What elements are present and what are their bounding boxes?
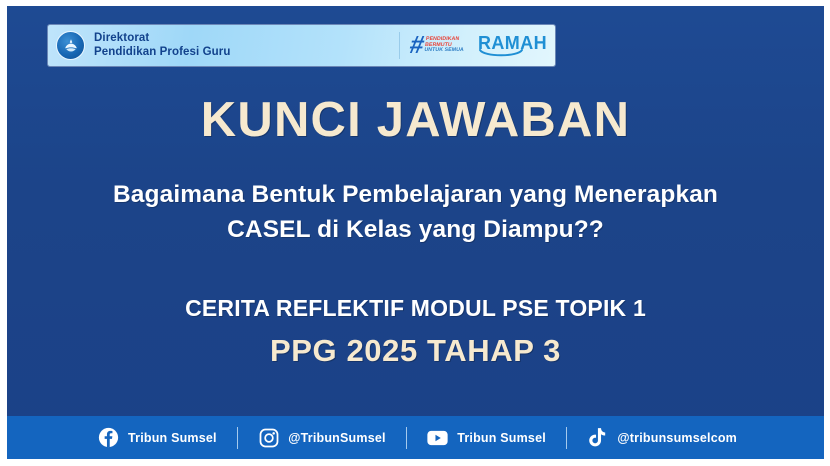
question-text: Bagaimana Bentuk Pembelajaran yang Mener… (43, 178, 788, 248)
poster-card: Direktorat Pendidikan Profesi Guru # PEN… (0, 0, 830, 466)
banner-divider (399, 32, 400, 59)
institution-name: Direktorat Pendidikan Profesi Guru (94, 32, 231, 59)
campaign-line-3: UNTUK SEMUA (423, 48, 463, 54)
youtube-icon (427, 427, 448, 448)
campaign-text: PENDIDIKAN BERMUTU UNTUK SEMUA (423, 37, 465, 54)
footer-separator (237, 427, 239, 449)
social-handle-youtube: Tribun Sumsel (457, 431, 546, 445)
social-item-tiktok[interactable]: @tribunsumselcom (587, 427, 737, 448)
question-line-1: Bagaimana Bentuk Pembelajaran yang Mener… (43, 178, 788, 213)
social-item-youtube[interactable]: Tribun Sumsel (427, 427, 546, 448)
social-handle-facebook: Tribun Sumsel (128, 431, 217, 445)
ramah-logo: RAMAH (478, 34, 547, 58)
module-subtitle: CERITA REFLEKTIF MODUL PSE TOPIK 1 (7, 295, 824, 322)
institution-name-line-2: Pendidikan Profesi Guru (94, 46, 231, 59)
ramah-label: RAMAH (478, 34, 547, 52)
social-item-facebook[interactable]: Tribun Sumsel (98, 427, 217, 448)
program-label: PPG 2025 TAHAP 3 (7, 333, 824, 369)
poster-canvas: Direktorat Pendidikan Profesi Guru # PEN… (7, 6, 824, 459)
pendidikan-bermutu-logo: # PENDIDIKAN BERMUTU UNTUK SEMUA (410, 33, 464, 58)
hashtag-icon: # (407, 33, 425, 58)
tut-wuri-handayani-logo (56, 31, 85, 60)
institution-name-line-1: Direktorat (94, 32, 231, 45)
question-line-2: CASEL di Kelas yang Diampu?? (43, 213, 788, 248)
footer-separator (406, 427, 408, 449)
instagram-icon (258, 427, 279, 448)
facebook-icon (98, 427, 119, 448)
social-footer: Tribun Sumsel @TribunSumsel (7, 416, 824, 459)
social-handle-instagram: @TribunSumsel (288, 431, 385, 445)
institution-banner: Direktorat Pendidikan Profesi Guru # PEN… (48, 25, 555, 66)
tiktok-icon (587, 427, 608, 448)
footer-separator (566, 427, 568, 449)
social-item-instagram[interactable]: @TribunSumsel (258, 427, 385, 448)
social-handle-tiktok: @tribunsumselcom (617, 431, 737, 445)
page-title: KUNCI JAWABAN (7, 92, 824, 148)
